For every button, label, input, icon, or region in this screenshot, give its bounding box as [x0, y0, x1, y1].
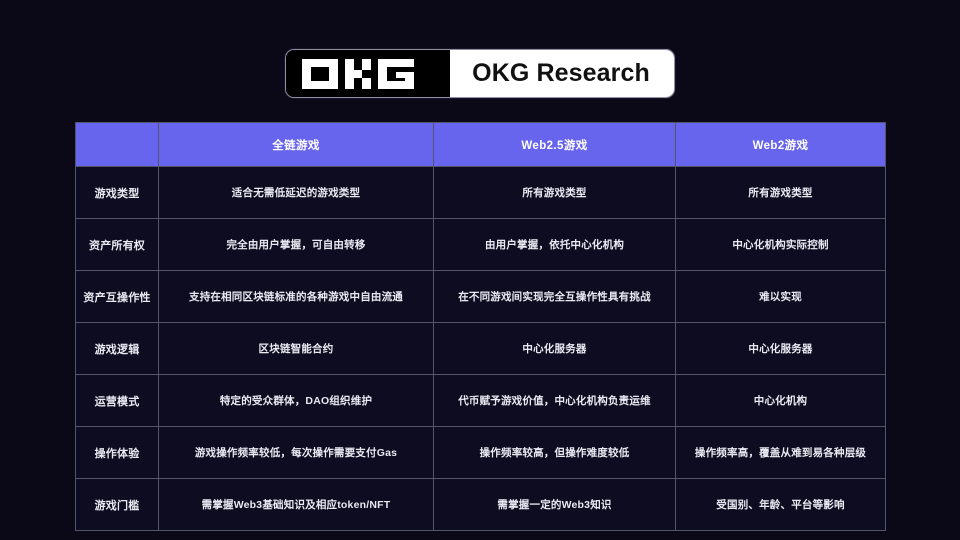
table-row: 运营模式 特定的受众群体，DAO组织维护 代币赋予游戏价值，中心化机构负责运维 … — [76, 375, 886, 427]
table-header: 全链游戏 Web2.5游戏 Web2游戏 — [76, 123, 886, 167]
row-label: 资产所有权 — [76, 219, 159, 271]
cell-web2: 中心化机构 — [676, 375, 886, 427]
cell-web2: 中心化机构实际控制 — [676, 219, 886, 271]
table-row: 游戏门槛 需掌握Web3基础知识及相应token/NFT 需掌握一定的Web3知… — [76, 479, 886, 531]
row-label: 运营模式 — [76, 375, 159, 427]
table-body: 游戏类型 适合无需低延迟的游戏类型 所有游戏类型 所有游戏类型 资产所有权 完全… — [76, 167, 886, 531]
row-label: 游戏门槛 — [76, 479, 159, 531]
cell-web25: 在不同游戏间实现完全互操作性具有挑战 — [434, 271, 676, 323]
okg-blocks-logo-icon — [286, 50, 450, 97]
cell-fullchain: 需掌握Web3基础知识及相应token/NFT — [159, 479, 434, 531]
logo-badge: OKG Research — [285, 49, 675, 98]
comparison-table: 全链游戏 Web2.5游戏 Web2游戏 游戏类型 适合无需低延迟的游戏类型 所… — [75, 122, 886, 531]
cell-fullchain: 支持在相同区块链标准的各种游戏中自由流通 — [159, 271, 434, 323]
column-header-fullchain: 全链游戏 — [159, 123, 434, 167]
cell-web2: 受国别、年龄、平台等影响 — [676, 479, 886, 531]
cell-web2: 操作频率高，覆盖从难到易各种层级 — [676, 427, 886, 479]
table-header-row: 全链游戏 Web2.5游戏 Web2游戏 — [76, 123, 886, 167]
column-header-web25: Web2.5游戏 — [434, 123, 676, 167]
table-row: 资产互操作性 支持在相同区块链标准的各种游戏中自由流通 在不同游戏间实现完全互操… — [76, 271, 886, 323]
row-label: 操作体验 — [76, 427, 159, 479]
cell-fullchain: 适合无需低延迟的游戏类型 — [159, 167, 434, 219]
cell-web25: 所有游戏类型 — [434, 167, 676, 219]
cell-web25: 由用户掌握，依托中心化机构 — [434, 219, 676, 271]
table-row: 游戏逻辑 区块链智能合约 中心化服务器 中心化服务器 — [76, 323, 886, 375]
column-header-web2: Web2游戏 — [676, 123, 886, 167]
cell-web25: 操作频率较高，但操作难度较低 — [434, 427, 676, 479]
row-label: 资产互操作性 — [76, 271, 159, 323]
cell-web25: 需掌握一定的Web3知识 — [434, 479, 676, 531]
row-label: 游戏逻辑 — [76, 323, 159, 375]
cell-fullchain: 完全由用户掌握，可自由转移 — [159, 219, 434, 271]
column-header-dimension — [76, 123, 159, 167]
cell-web2: 难以实现 — [676, 271, 886, 323]
cell-web2: 所有游戏类型 — [676, 167, 886, 219]
cell-web2: 中心化服务器 — [676, 323, 886, 375]
brand-name: OKG Research — [450, 50, 674, 97]
table-row: 操作体验 游戏操作频率较低，每次操作需要支付Gas 操作频率较高，但操作难度较低… — [76, 427, 886, 479]
cell-web25: 代币赋予游戏价值，中心化机构负责运维 — [434, 375, 676, 427]
comparison-table-container: 全链游戏 Web2.5游戏 Web2游戏 游戏类型 适合无需低延迟的游戏类型 所… — [75, 122, 885, 531]
table-row: 游戏类型 适合无需低延迟的游戏类型 所有游戏类型 所有游戏类型 — [76, 167, 886, 219]
row-label: 游戏类型 — [76, 167, 159, 219]
table-row: 资产所有权 完全由用户掌握，可自由转移 由用户掌握，依托中心化机构 中心化机构实… — [76, 219, 886, 271]
cell-fullchain: 特定的受众群体，DAO组织维护 — [159, 375, 434, 427]
cell-fullchain: 区块链智能合约 — [159, 323, 434, 375]
cell-fullchain: 游戏操作频率较低，每次操作需要支付Gas — [159, 427, 434, 479]
brand-logo: OKG Research — [0, 49, 960, 98]
cell-web25: 中心化服务器 — [434, 323, 676, 375]
